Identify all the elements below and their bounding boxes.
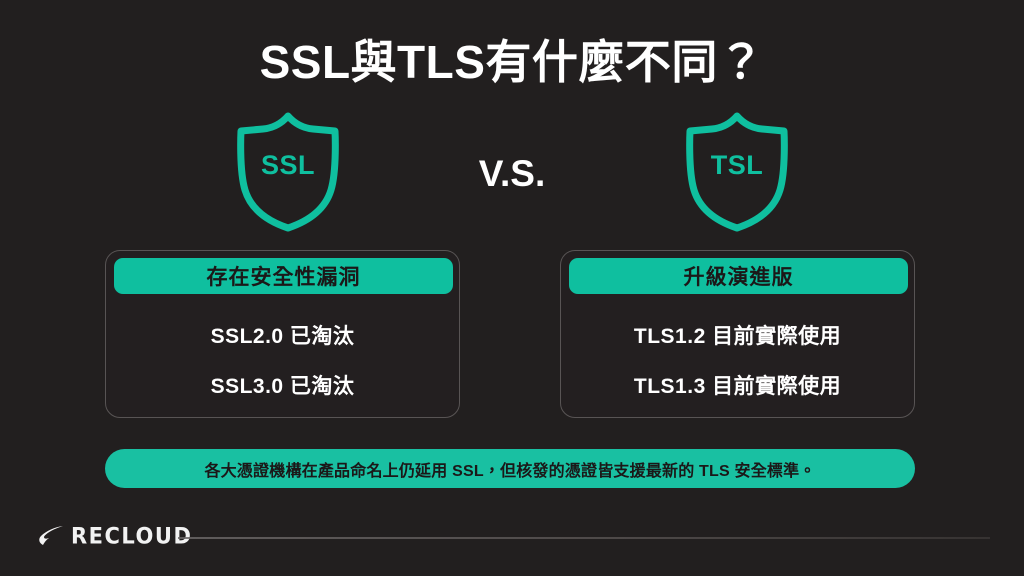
footer: RECLOUD xyxy=(0,516,1024,562)
note-banner: 各大憑證機構在產品命名上仍延用 SSL，但核發的憑證皆支援最新的 TLS 安全標… xyxy=(105,449,915,488)
tls-panel-body: TLS1.2 目前實際使用 TLS1.3 目前實際使用 xyxy=(561,303,914,417)
tls-panel: 升級演進版 TLS1.2 目前實際使用 TLS1.3 目前實際使用 xyxy=(560,250,915,418)
footer-divider xyxy=(178,537,990,539)
ssl-panel-body: SSL2.0 已淘汰 SSL3.0 已淘汰 xyxy=(106,303,459,417)
ssl-panel: 存在安全性漏洞 SSL2.0 已淘汰 SSL3.0 已淘汰 xyxy=(105,250,460,418)
comparison-shield-row: SSL TSL V.S. xyxy=(0,110,1024,235)
ssl-panel-header: 存在安全性漏洞 xyxy=(114,258,453,294)
list-item: SSL2.0 已淘汰 xyxy=(211,320,355,350)
swoosh-icon xyxy=(38,525,64,547)
tls-panel-header: 升級演進版 xyxy=(569,258,908,294)
versus-label: V.S. xyxy=(0,153,1024,195)
brand-logo-text: RECLOUD xyxy=(71,523,192,548)
list-item: TLS1.3 目前實際使用 xyxy=(634,370,841,400)
slide-root: SSL與TLS有什麼不同？ SSL TSL V.S. 存在安全性漏洞 SSL2.… xyxy=(0,0,1024,576)
list-item: SSL3.0 已淘汰 xyxy=(211,370,355,400)
list-item: TLS1.2 目前實際使用 xyxy=(634,320,841,350)
page-title: SSL與TLS有什麼不同？ xyxy=(0,26,1024,92)
brand-logo: RECLOUD xyxy=(38,516,192,556)
